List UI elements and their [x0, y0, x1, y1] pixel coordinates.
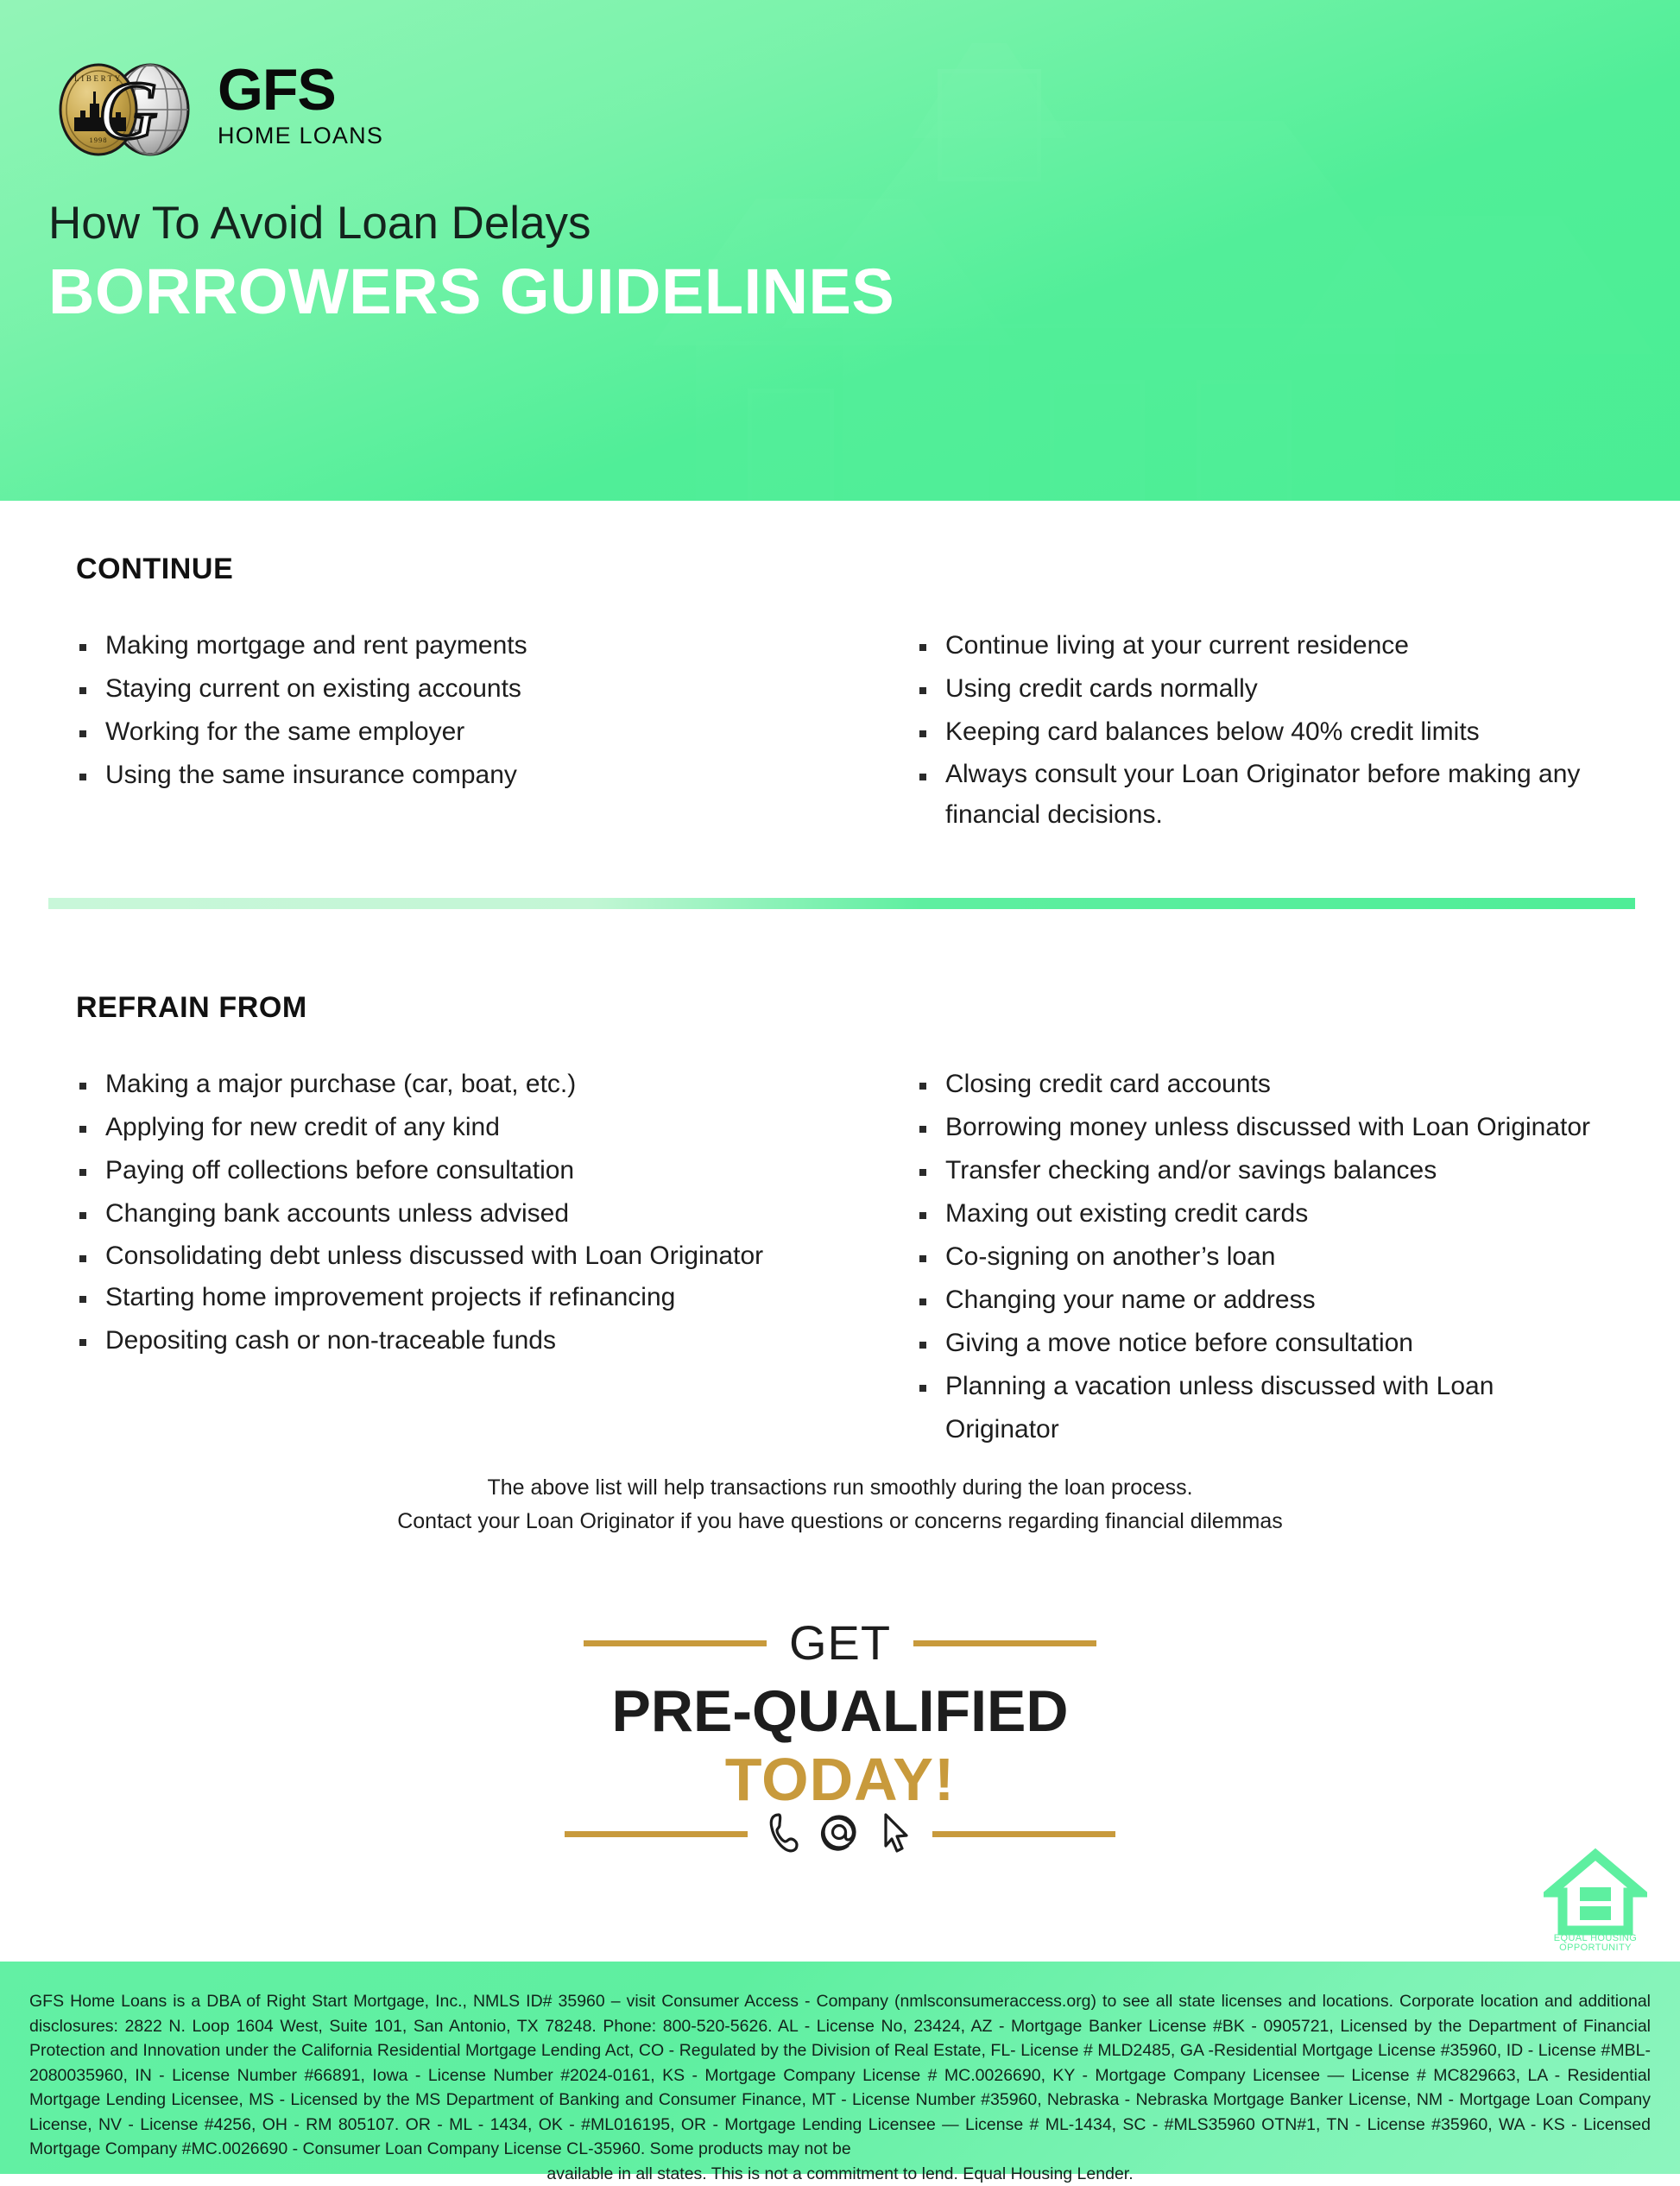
cta-get-row: GET: [0, 1616, 1680, 1670]
cta-rule-right: [913, 1640, 1096, 1646]
refrain-right-list: Closing credit card accounts Borrowing m…: [916, 1063, 1604, 1451]
refrain-right-column: Closing credit card accounts Borrowing m…: [840, 1063, 1604, 1451]
list-item: Borrowing money unless discussed with Lo…: [916, 1106, 1604, 1149]
list-item: Consolidating debt unless discussed with…: [76, 1235, 840, 1276]
list-item: Co-signing on another’s loan: [916, 1235, 1604, 1279]
svg-text:G: G: [98, 64, 157, 156]
cta-contact-icons: [767, 1810, 913, 1859]
footer-disclosure-body: GFS Home Loans is a DBA of Right Start M…: [29, 1992, 1651, 2158]
brand-name: GFS: [218, 60, 383, 119]
page-header: LIBERTY 1998 G GFS HOME LOANS How To Avo…: [0, 0, 1680, 501]
cursor-arrow-icon[interactable]: [877, 1810, 913, 1859]
list-item: Paying off collections before consultati…: [76, 1149, 840, 1192]
list-item: Continue living at your current residenc…: [916, 624, 1604, 667]
continue-right-list: Continue living at your current residenc…: [916, 624, 1604, 835]
continue-right-column: Continue living at your current residenc…: [840, 624, 1604, 835]
list-item: Using the same insurance company: [76, 754, 840, 797]
continue-columns: Making mortgage and rent payments Stayin…: [0, 624, 1680, 835]
at-sign-icon[interactable]: [818, 1810, 860, 1859]
brand-logo: LIBERTY 1998 G GFS HOME LOANS: [48, 59, 445, 162]
list-item: Keeping card balances below 40% credit l…: [916, 711, 1604, 754]
list-item: Starting home improvement projects if re…: [76, 1276, 840, 1319]
refrain-left-column: Making a major purchase (car, boat, etc.…: [76, 1063, 840, 1451]
footer-disclosure: GFS Home Loans is a DBA of Right Start M…: [0, 1962, 1680, 2186]
cta-prequalified-label: PRE-QUALIFIED: [0, 1678, 1680, 1744]
cta-get-label: GET: [789, 1616, 891, 1670]
phone-icon[interactable]: [767, 1810, 801, 1859]
continue-left-column: Making mortgage and rent payments Stayin…: [76, 624, 840, 835]
list-item: Making mortgage and rent payments: [76, 624, 840, 667]
list-item: Changing bank accounts unless advised: [76, 1192, 840, 1235]
list-item: Depositing cash or non-traceable funds: [76, 1319, 840, 1362]
list-item: Working for the same employer: [76, 711, 840, 754]
continue-heading: CONTINUE: [76, 553, 1680, 586]
cta-today-label: TODAY!: [0, 1746, 1680, 1813]
closing-note: The above list will help transactions ru…: [0, 1471, 1680, 1538]
svg-text:OPPORTUNITY: OPPORTUNITY: [1559, 1943, 1632, 1951]
cta-rule-left: [584, 1640, 767, 1646]
list-item: Staying current on existing accounts: [76, 667, 840, 711]
closing-line-1: The above list will help transactions ru…: [0, 1471, 1680, 1505]
page-footer: GFS Home Loans is a DBA of Right Start M…: [0, 1962, 1680, 2174]
equal-housing-opportunity-icon: EQUAL HOUSING OPPORTUNITY: [1544, 1839, 1647, 1951]
closing-line-2: Contact your Loan Originator if you have…: [0, 1505, 1680, 1538]
brand-wordmark: GFS HOME LOANS: [218, 60, 383, 148]
refrain-left-list: Making a major purchase (car, boat, etc.…: [76, 1063, 840, 1362]
cta-rule-bottom-left: [565, 1831, 748, 1837]
refrain-heading: REFRAIN FROM: [76, 991, 1680, 1025]
continue-section: CONTINUE Making mortgage and rent paymen…: [0, 553, 1680, 835]
refrain-columns: Making a major purchase (car, boat, etc.…: [0, 1063, 1680, 1451]
list-item: Always consult your Loan Originator befo…: [916, 754, 1604, 835]
list-item: Changing your name or address: [916, 1279, 1604, 1322]
list-item: Maxing out existing credit cards: [916, 1192, 1604, 1235]
header-titles: How To Avoid Loan Delays BORROWERS GUIDE…: [48, 197, 1343, 328]
list-item: Closing credit card accounts: [916, 1063, 1604, 1106]
brand-tagline: HOME LOANS: [218, 123, 383, 148]
page-title: BORROWERS GUIDELINES: [48, 256, 1343, 328]
cta-block[interactable]: GET PRE-QUALIFIED TODAY!: [0, 1616, 1680, 1859]
list-item: Planning a vacation unless discussed wit…: [916, 1365, 1604, 1451]
list-item: Applying for new credit of any kind: [76, 1106, 840, 1149]
cta-rule-bottom-right: [932, 1831, 1115, 1837]
cta-contact-row: [0, 1810, 1680, 1859]
list-item: Transfer checking and/or savings balance…: [916, 1149, 1604, 1192]
list-item: Using credit cards normally: [916, 667, 1604, 711]
header-kicker: How To Avoid Loan Delays: [48, 197, 1343, 250]
refrain-section: REFRAIN FROM Making a major purchase (ca…: [0, 991, 1680, 1451]
gfs-liberty-globe-logo: LIBERTY 1998 G: [48, 59, 209, 161]
list-item: Making a major purchase (car, boat, etc.…: [76, 1063, 840, 1106]
section-divider: [48, 898, 1635, 909]
continue-left-list: Making mortgage and rent payments Stayin…: [76, 624, 840, 797]
list-item: Giving a move notice before consultation: [916, 1322, 1604, 1365]
